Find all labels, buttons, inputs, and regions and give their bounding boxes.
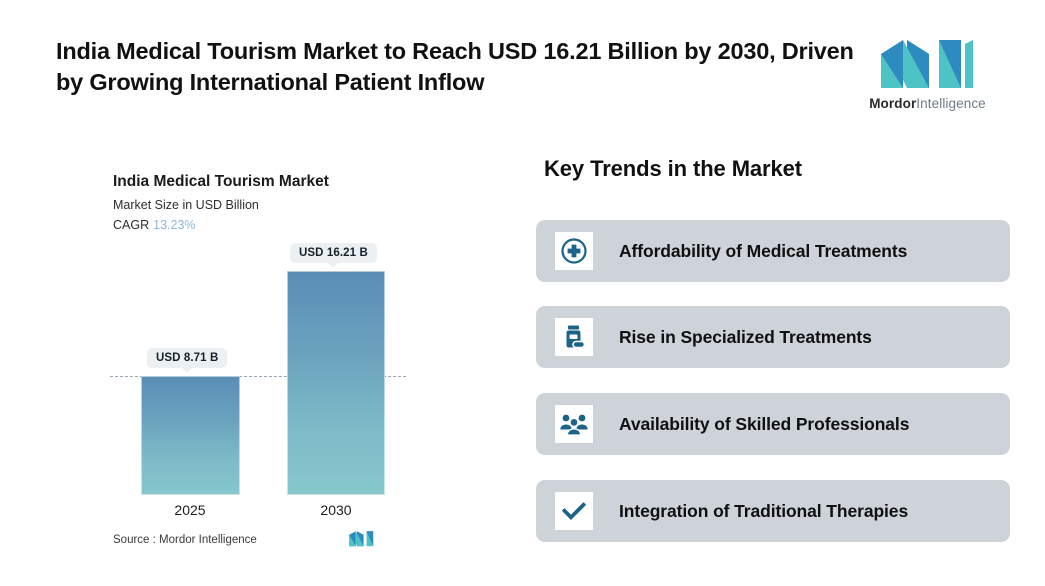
key-trends-heading: Key Trends in the Market [544, 156, 802, 182]
page-title: India Medical Tourism Market to Reach US… [56, 36, 856, 99]
x-axis-label-2030: 2030 [276, 502, 396, 518]
key-trends-panel: Key Trends in the Market Affordability o… [500, 130, 1045, 586]
trend-label: Availability of Skilled Professionals [619, 393, 909, 455]
trend-label: Affordability of Medical Treatments [619, 220, 907, 282]
trend-card-skilled-professionals[interactable]: Availability of Skilled Professionals [536, 393, 1010, 455]
bar-2030 [287, 271, 385, 495]
trend-card-affordability[interactable]: Affordability of Medical Treatments [536, 220, 1010, 282]
trend-card-specialized-treatments[interactable]: Rise in Specialized Treatments [536, 306, 1010, 368]
medicine-bottle-icon [555, 318, 593, 356]
mordor-m-logo-icon [877, 36, 977, 92]
trend-card-traditional-therapies[interactable]: Integration of Traditional Therapies [536, 480, 1010, 542]
page-header: India Medical Tourism Market to Reach US… [0, 0, 1045, 130]
chart-panel: India Medical Tourism Market Market Size… [0, 130, 500, 586]
bar-2025 [141, 376, 240, 495]
medical-cross-circle-icon [555, 232, 593, 270]
checkmark-icon [555, 492, 593, 530]
source-mordor-logo-icon [348, 530, 378, 548]
people-group-icon [555, 405, 593, 443]
brand-word-primary: Mordor [869, 96, 916, 111]
brand-word-secondary: Intelligence [916, 96, 986, 111]
brand-wordmark: MordorIntelligence [865, 96, 990, 111]
x-axis-label-2025: 2025 [130, 502, 250, 518]
value-badge-2025: USD 8.71 B [147, 348, 227, 368]
trend-label: Rise in Specialized Treatments [619, 306, 872, 368]
bar-chart-plot: USD 8.71 B USD 16.21 B 2025 2030 [0, 130, 500, 586]
value-badge-2030: USD 16.21 B [290, 243, 377, 263]
trend-label: Integration of Traditional Therapies [619, 480, 908, 542]
brand-logo: MordorIntelligence [865, 36, 990, 118]
source-text: Source : Mordor Intelligence [113, 534, 257, 546]
